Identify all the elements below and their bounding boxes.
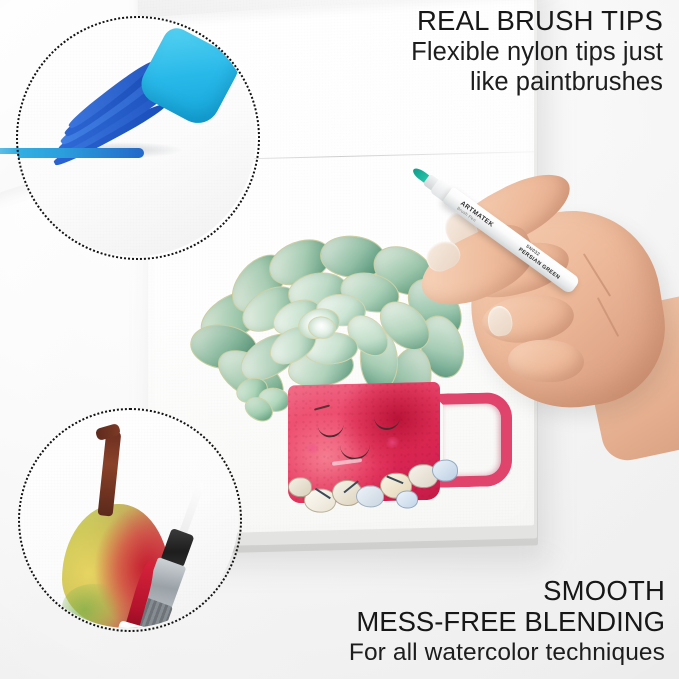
pebble <box>288 477 312 498</box>
inset-pear-closeup <box>18 408 238 628</box>
water-brush-tip <box>178 482 205 537</box>
product-infographic: ARTMATEK Brush Pen SN032 PERSIAN GREEN <box>0 0 679 679</box>
blue-stroke-extension <box>0 148 20 154</box>
bottom-right-headline-2: MESS-FREE BLENDING <box>245 607 665 638</box>
top-right-subline-1: Flexible nylon tips just <box>319 37 663 68</box>
callout-top-right: REAL BRUSH TIPS Flexible nylon tips just… <box>319 6 663 98</box>
top-right-headline: REAL BRUSH TIPS <box>319 6 663 37</box>
bottom-right-subline-1: For all watercolor techniques <box>245 638 665 667</box>
bottom-right-headline-1: SMOOTH <box>245 576 665 607</box>
top-right-subline-2: like paintbrushes <box>319 67 663 98</box>
blue-brush-stroke <box>16 148 144 158</box>
pebble <box>396 490 418 509</box>
inset-brush-tip-closeup <box>16 16 256 256</box>
callout-bottom-right: SMOOTH MESS-FREE BLENDING For all waterc… <box>245 576 665 667</box>
